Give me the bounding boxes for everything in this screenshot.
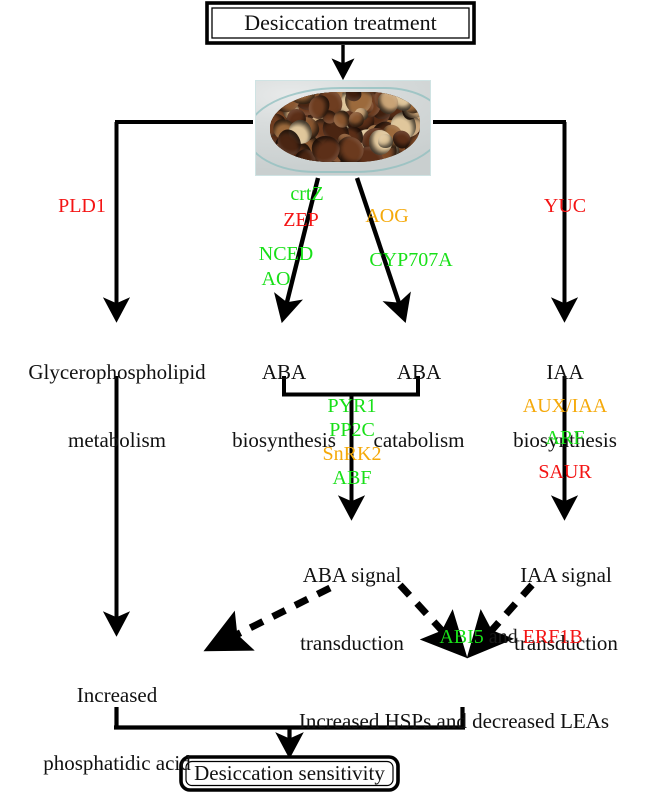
- node-line: Increased: [22, 684, 212, 707]
- gene-label-saur: SAUR: [504, 462, 626, 484]
- gene-label-zep: ZEP: [260, 210, 342, 232]
- gene-label-abf: ABF: [292, 468, 412, 490]
- gene-label-pld1: PLD1: [22, 196, 142, 218]
- node-glycerophospholipid-metabolism: Glycerophospholipid metabolism: [6, 316, 228, 497]
- node-line: ABA: [216, 361, 352, 384]
- gene-label-crtz: crtZ: [266, 184, 348, 206]
- gene-label-abi5-and-erf1b: ABI5 and ERF1B: [372, 610, 634, 666]
- gene-label-cyp707a: CYP707A: [344, 250, 478, 272]
- photo-seed-pile: [270, 92, 420, 162]
- node-line: ABA signal: [278, 564, 426, 587]
- node-line: Glycerophospholipid: [6, 361, 228, 384]
- top-box-label: Desiccation treatment: [207, 3, 474, 43]
- node-line: IAA: [489, 361, 641, 384]
- node-line: ABA: [352, 361, 486, 384]
- seed: [377, 134, 393, 149]
- figure-canvas: Glycerophospholipid metabolism ABA biosy…: [0, 0, 661, 793]
- gene-label-ao: AO: [236, 269, 316, 291]
- gene-label-snrk2: SnRK2: [292, 444, 412, 466]
- gene-label-erf1b: ERF1B: [523, 626, 583, 648]
- node-line: IAA signal: [492, 564, 640, 587]
- gene-label-nced: NCED: [240, 244, 332, 266]
- gene-label-pyr1: PYR1: [292, 396, 412, 418]
- gene-label-aux-iaa: AUX/IAA: [498, 396, 632, 418]
- bottom-box-label: Desiccation sensitivity: [181, 757, 398, 790]
- gene-label-arf: ARF: [504, 428, 626, 450]
- chestnut-seeds-photo: [255, 80, 431, 176]
- node-line: metabolism: [6, 429, 228, 452]
- gene-label-abi5: ABI5: [439, 626, 483, 648]
- gene-label-yuc: YUC: [506, 196, 624, 218]
- gene-label-pp2c: PP2C: [292, 420, 412, 442]
- conjunction-and: and: [489, 626, 518, 648]
- edge-seeds-to-aba-catabolism: [357, 178, 404, 318]
- node-line: Increased HSPs and decreased LEAs: [252, 710, 656, 733]
- gene-label-aog: AOG: [342, 206, 432, 228]
